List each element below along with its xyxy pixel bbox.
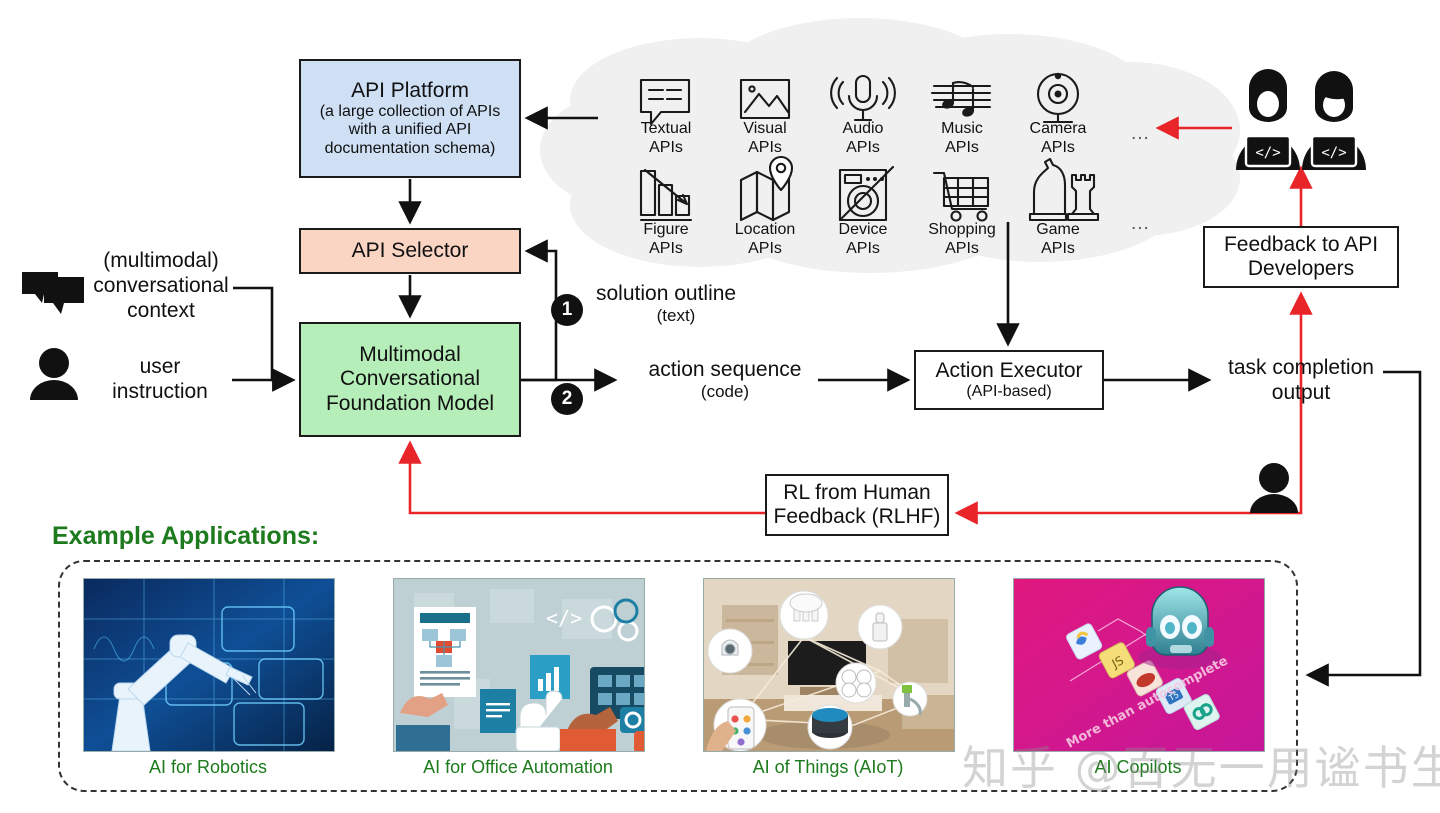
watermark-text: 知乎 @百无一用谧书生 (962, 732, 1440, 798)
cloud-camera-line1: Camera (1006, 120, 1110, 139)
cloud-visual-line1: Visual (713, 120, 817, 139)
foundation-model-line-3: Foundation Model (326, 392, 494, 416)
developer-female-icon: </> (1236, 69, 1300, 170)
api-selector-title: API Selector (352, 239, 469, 263)
action-executor-subtitle: (API-based) (966, 383, 1051, 402)
thumbnail-ai-for-robotics[interactable] (83, 578, 335, 752)
svg-text:</>: </> (1255, 145, 1280, 161)
cloud-label-visual[interactable]: Visual APIs (713, 120, 817, 158)
feedback-line-2: Developers (1248, 257, 1354, 281)
cloud-location-line1: Location (713, 221, 817, 240)
solution-outline-label: solution outline (text) (596, 281, 776, 327)
thumbnail-ai-for-office-automation[interactable]: </> (393, 578, 645, 752)
foundation-model-line-1: Multimodal (359, 343, 461, 367)
cloud-figure-line1: Figure (614, 221, 718, 240)
cloud-audio-line1: Audio (811, 120, 915, 139)
cloud-textual-line2: APIs (614, 139, 718, 158)
foundation-model-box[interactable]: Multimodal Conversational Foundation Mod… (299, 322, 521, 437)
cloud-music-line2: APIs (910, 139, 1014, 158)
cloud-location-line2: APIs (713, 240, 817, 259)
arrow-rlhf-to-model (410, 443, 765, 513)
bar-chart-icon (641, 170, 691, 220)
microphone-icon (831, 76, 895, 120)
cloud-game-line2: APIs (1006, 240, 1110, 259)
step-number-2: 2 (551, 383, 583, 415)
action-sequence-sub: (code) (632, 382, 818, 402)
chess-pieces-icon (1030, 159, 1098, 220)
instruction-line-1: user (90, 354, 230, 379)
svg-text:</>: </> (1321, 145, 1346, 161)
svg-text:</>: </> (546, 606, 582, 630)
action-executor-title: Action Executor (935, 359, 1082, 383)
webcam-icon (1038, 73, 1078, 122)
cloud-label-device[interactable]: Device APIs (811, 221, 915, 259)
output-line-2: output (1213, 380, 1389, 405)
developer-male-icon: </> (1302, 71, 1366, 170)
action-sequence-label: action sequence (code) (632, 357, 818, 403)
context-line-2: conversational (86, 273, 236, 298)
cloud-label-music[interactable]: Music APIs (910, 120, 1014, 158)
api-platform-subtitle-1: (a large collection of APIs (320, 103, 501, 122)
shopping-cart-icon (934, 173, 988, 221)
cloud-label-camera[interactable]: Camera APIs (1006, 120, 1110, 158)
action-sequence-text: action sequence (632, 357, 818, 382)
cloud-audio-line2: APIs (811, 139, 915, 158)
cloud-music-line1: Music (910, 120, 1014, 139)
instruction-line-2: instruction (90, 379, 230, 404)
arrow-solution-outline-to-selector (521, 251, 556, 380)
feedback-to-developers-box[interactable]: Feedback to API Developers (1203, 226, 1399, 288)
cloud-label-shopping[interactable]: Shopping APIs (910, 221, 1014, 259)
text-bubble-icon (641, 80, 689, 124)
arrow-output-to-rlhf (957, 404, 1301, 513)
output-line-1: task completion (1213, 355, 1389, 380)
cloud-label-figure[interactable]: Figure APIs (614, 221, 718, 259)
cloud-ellipsis-row1: ... (1131, 123, 1150, 145)
api-platform-title: API Platform (351, 79, 469, 103)
music-notes-icon (932, 82, 990, 118)
image-picture-icon (741, 80, 789, 118)
human-evaluator-icon (1250, 463, 1298, 513)
solution-outline-sub: (text) (596, 306, 756, 326)
thumbnail-ai-copilots[interactable]: JS T5 (1013, 578, 1265, 752)
caption-ai-for-robotics: AI for Robotics (78, 757, 338, 778)
task-completion-output-label: task completion output (1213, 355, 1389, 405)
rlhf-box[interactable]: RL from Human Feedback (RLHF) (765, 474, 949, 536)
api-platform-subtitle-3: documentation schema) (325, 140, 496, 159)
thumbnail-ai-of-things[interactable] (703, 578, 955, 752)
rlhf-line-1: RL from Human (783, 481, 930, 505)
user-icon (30, 348, 78, 400)
cloud-visual-line2: APIs (713, 139, 817, 158)
caption-ai-of-things: AI of Things (AIoT) (698, 757, 958, 778)
cloud-label-game[interactable]: Game APIs (1006, 221, 1110, 259)
arrow-context-to-model (233, 288, 293, 380)
washing-machine-icon (840, 167, 893, 220)
cloud-device-line2: APIs (811, 240, 915, 259)
foundation-model-line-2: Conversational (340, 367, 480, 391)
cloud-camera-line2: APIs (1006, 139, 1110, 158)
conversational-context-label: (multimodal) conversational context (86, 248, 236, 324)
cloud-device-line1: Device (811, 221, 915, 240)
api-platform-box[interactable]: API Platform (a large collection of APIs… (299, 59, 521, 178)
user-instruction-label: user instruction (90, 354, 230, 404)
chat-bubbles-icon (22, 272, 84, 314)
api-selector-box[interactable]: API Selector (299, 228, 521, 274)
caption-ai-for-office-automation: AI for Office Automation (388, 757, 648, 778)
rlhf-line-2: Feedback (RLHF) (774, 505, 941, 529)
arrow-output-to-examples (1308, 372, 1420, 675)
context-line-3: context (86, 298, 236, 323)
cloud-textual-line1: Textual (614, 120, 718, 139)
solution-outline-text: solution outline (596, 281, 776, 306)
cloud-ellipsis-row2: ... (1131, 213, 1150, 235)
cloud-game-line1: Game (1006, 221, 1110, 240)
cloud-label-location[interactable]: Location APIs (713, 221, 817, 259)
cloud-shopping-line1: Shopping (910, 221, 1014, 240)
map-pin-icon (741, 157, 792, 220)
cloud-figure-line2: APIs (614, 240, 718, 259)
cloud-label-textual[interactable]: Textual APIs (614, 120, 718, 158)
diagram-canvas: API Platform (a large collection of APIs… (0, 0, 1440, 813)
cloud-label-audio[interactable]: Audio APIs (811, 120, 915, 158)
cloud-shopping-line2: APIs (910, 240, 1014, 259)
step-number-1: 1 (551, 294, 583, 326)
api-platform-subtitle-2: with a unified API (349, 121, 472, 140)
context-line-1: (multimodal) (86, 248, 236, 273)
feedback-line-1: Feedback to API (1224, 233, 1378, 257)
action-executor-box[interactable]: Action Executor (API-based) (914, 350, 1104, 410)
example-applications-heading: Example Applications: (52, 522, 319, 551)
